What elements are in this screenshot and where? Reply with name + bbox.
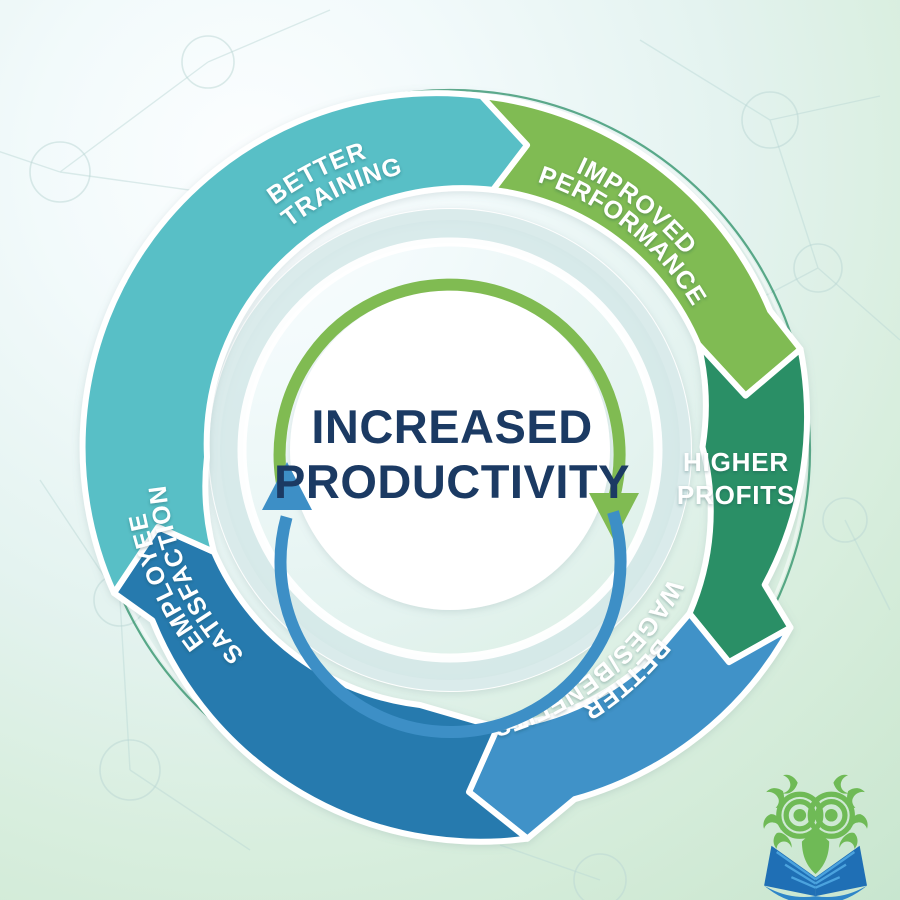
owl-on-book-logo[interactable] — [763, 775, 867, 900]
brand-logo-layer[interactable] — [0, 0, 900, 900]
infographic-canvas: IMPROVED PERFORMANCE HIGHER PROFITS BETT… — [0, 0, 900, 900]
